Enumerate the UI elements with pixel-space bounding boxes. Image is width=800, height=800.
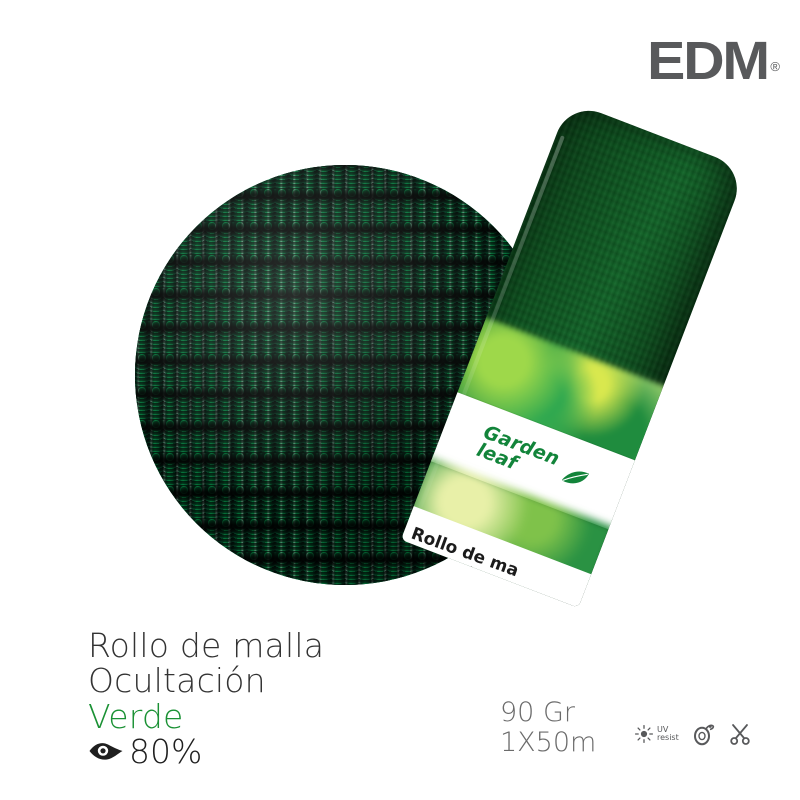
shading-percentage-value: 80% [129, 735, 202, 768]
registered-trademark-symbol: ® [770, 60, 780, 73]
product-image-canvas: EDM ® Garden leaf [0, 0, 800, 800]
product-color-label: Verde [88, 699, 468, 734]
product-title-line2: Ocultación [88, 663, 468, 698]
feature-icon-row: UV resist [634, 722, 751, 746]
leaf-icon [559, 463, 590, 491]
product-specs: 90 Gr 1X50m [500, 698, 596, 758]
sun-uv-icon [634, 724, 654, 744]
spec-dimensions: 1X50m [500, 728, 596, 758]
garden-leaf-wordmark: Garden leaf [474, 423, 562, 486]
uv-resist-label: UV resist [657, 726, 679, 742]
product-title-block: Rollo de malla Ocultación Verde 80% [88, 628, 468, 768]
uv-label-line2: resist [657, 734, 679, 742]
edm-logo: EDM ® [620, 34, 780, 96]
product-title-line1: Rollo de malla [88, 628, 468, 663]
shading-percentage-row: 80% [88, 735, 468, 768]
scissors-icon [729, 722, 751, 746]
feature-uv-resist: UV resist [634, 724, 679, 744]
eye-icon [88, 740, 124, 762]
brand-name: EDM [648, 34, 769, 88]
product-roll: Garden leaf Rollo de ma Ocultació [545, 110, 800, 590]
spec-weight: 90 Gr [500, 698, 596, 728]
eyelet-grommet-icon [693, 722, 715, 746]
